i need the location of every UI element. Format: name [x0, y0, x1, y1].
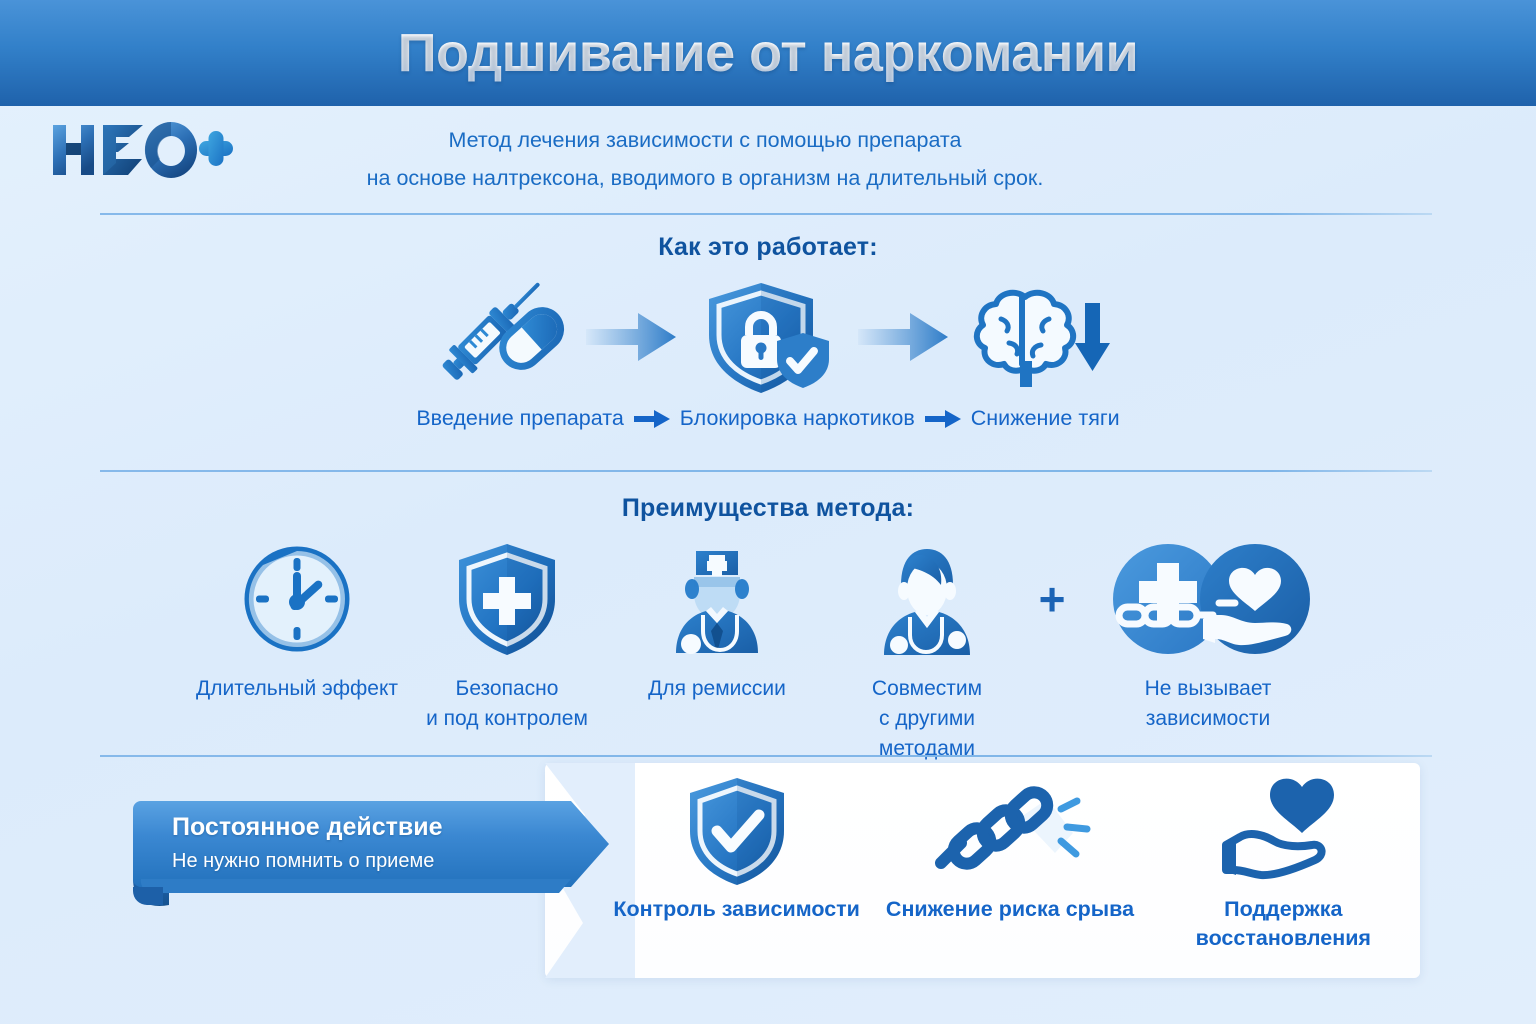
shield-lock-icon: [688, 278, 848, 396]
infographic-page: Подшивание от наркомании: [0, 0, 1536, 1024]
advantage-label-duration: Длительный эффект: [196, 674, 398, 704]
doctor-person-icon: [868, 538, 986, 660]
no-addiction-icon: [1093, 538, 1323, 660]
ribbon-title: Постоянное действие: [172, 812, 572, 843]
advantage-item-duration: Длительный эффект: [192, 538, 402, 704]
how-step-label-2: Блокировка наркотиков: [680, 406, 915, 431]
card-label-support-line2: восстановления: [1196, 924, 1371, 953]
doctor-nurse-icon: [662, 538, 772, 660]
brain-down-arrow-icon: [960, 278, 1120, 396]
label-arrow-icon-2: [915, 410, 971, 428]
advantage-label-no-addiction-line1: Не вызывает: [1145, 674, 1272, 704]
arrow-right-icon-2: [848, 278, 960, 396]
plus-symbol: +: [1032, 538, 1072, 660]
page-title: Подшивание от наркомании: [398, 22, 1139, 84]
how-it-works-icons: [0, 278, 1536, 396]
card-label-relapse: Снижение риска срыва: [886, 895, 1134, 924]
advantage-label-compatible: Совместим с другими методами: [872, 674, 982, 763]
clock-icon: [242, 538, 352, 660]
ribbon-subtitle: Не нужно помнить о приеме: [172, 848, 572, 874]
advantage-label-compatible-line3: методами: [872, 734, 982, 764]
subtitle-line-2: на основе налтрексона, вводимого в орган…: [290, 160, 1120, 198]
card-label-control: Контроль зависимости: [613, 895, 860, 924]
card-item-relapse: Снижение риска срыва: [885, 775, 1135, 924]
arrow-right-icon-1: [576, 278, 688, 396]
advantage-label-remission: Для ремиссии: [648, 674, 786, 704]
advantages-heading: Преимущества метода:: [0, 494, 1536, 523]
advantage-label-safety-line1: Безопасно: [426, 674, 588, 704]
card-label-support: Поддержка восстановления: [1196, 895, 1371, 953]
shield-check-icon: [685, 775, 789, 887]
card-label-support-line1: Поддержка: [1196, 895, 1371, 924]
advantage-item-no-addiction: Не вызывает зависимости: [1072, 538, 1344, 734]
card-item-control: Контроль зависимости: [612, 775, 862, 924]
advantage-label-no-addiction-line2: зависимости: [1145, 704, 1272, 734]
bottom-card-items: Контроль зависимости: [600, 775, 1420, 975]
advantage-label-no-addiction: Не вызывает зависимости: [1145, 674, 1272, 734]
subtitle-line-1: Метод лечения зависимости с помощью преп…: [290, 122, 1120, 160]
how-it-works-heading: Как это работает:: [0, 233, 1536, 262]
how-step-label-3: Снижение тяги: [971, 406, 1120, 431]
syringe-pill-icon: [416, 278, 576, 396]
divider-top: [100, 213, 1432, 215]
how-step-label-1: Введение препарата: [416, 406, 623, 431]
page-header: Подшивание от наркомании: [0, 0, 1536, 106]
ribbon-text-block: Постоянное действие Не нужно помнить о п…: [172, 812, 572, 874]
shield-cross-icon: [454, 538, 560, 660]
divider-middle: [100, 470, 1432, 472]
brand-logo: НЕО+: [47, 119, 237, 181]
advantage-label-safety: Безопасно и под контролем: [426, 674, 588, 734]
advantages-row: Длительный эффект Безопасно и под контро…: [0, 538, 1536, 763]
heart-in-hand-icon: [1218, 775, 1348, 887]
advantage-label-compatible-line2: с другими: [872, 704, 982, 734]
advantage-item-safety: Безопасно и под контролем: [402, 538, 612, 734]
advantage-item-remission: Для ремиссии: [612, 538, 822, 704]
broken-chain-icon: [925, 775, 1095, 887]
label-arrow-icon-1: [624, 410, 680, 428]
advantage-label-compatible-line1: Совместим: [872, 674, 982, 704]
advantage-item-compatible: Совместим с другими методами: [822, 538, 1032, 763]
subtitle-block: Метод лечения зависимости с помощью преп…: [290, 122, 1120, 197]
divider-bottom: [100, 755, 1432, 757]
advantage-label-safety-line2: и под контролем: [426, 704, 588, 734]
card-item-support: Поддержка восстановления: [1158, 775, 1408, 953]
how-it-works-labels: Введение препарата Блокировка наркотиков…: [0, 406, 1536, 431]
